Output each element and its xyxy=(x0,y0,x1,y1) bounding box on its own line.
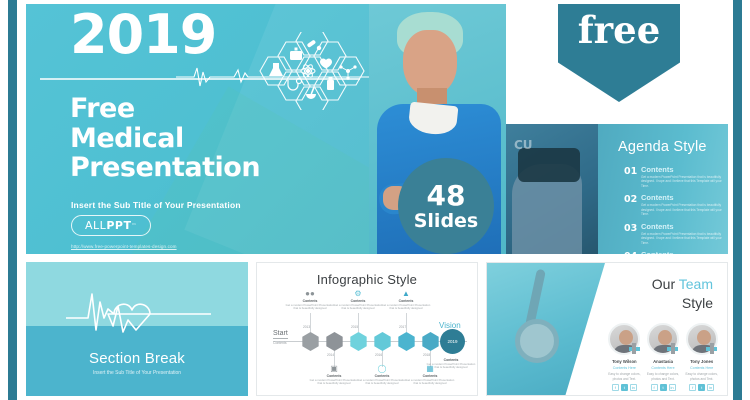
timeline-tick xyxy=(406,313,407,332)
right-rail xyxy=(733,0,742,400)
allppt-logo-tm: ™ xyxy=(131,223,137,229)
hero-subtitle: Insert the Sub Title of Your Presentatio… xyxy=(71,200,241,210)
twitter-icon[interactable]: t xyxy=(621,384,628,391)
milestone-text: Get a modern PowerPoint Presentation tha… xyxy=(355,379,409,387)
agenda-item-desc: Get a modern PowerPoint Presentation tha… xyxy=(641,232,724,245)
agenda-item-heading: Contents xyxy=(641,194,724,202)
milestone-text: Get a modern PowerPoint Presentation tha… xyxy=(283,304,337,312)
facebook-icon[interactable]: f xyxy=(612,384,619,391)
agenda-item-heading: Contents xyxy=(641,251,724,254)
agenda-item-desc: Get a modern PowerPoint Presentation tha… xyxy=(641,175,724,188)
team-title-word2: Team xyxy=(679,276,713,292)
slide-count-label: Slides xyxy=(414,212,479,231)
member-desc: Easy to change colors, photos and Text. xyxy=(605,372,644,381)
slide-section-break[interactable]: Section Break Insert the Sub Title of Yo… xyxy=(26,262,248,396)
member-socials: f t in xyxy=(644,384,683,391)
slide-agenda[interactable]: CU Agenda Style 01 Contents Get a modern… xyxy=(506,124,728,254)
photo-watermark: CU xyxy=(514,138,533,152)
agenda-item[interactable]: 03 Contents Get a modern PowerPoint Pres… xyxy=(624,223,724,245)
team-members: Tony Wilson Contents Here Easy to change… xyxy=(605,323,721,391)
section-break-title: Section Break xyxy=(26,350,248,367)
milestone-top[interactable]: ▲ Contents Get a modern PowerPoint Prese… xyxy=(379,290,433,311)
team-member[interactable]: Anastasia Contents Here Easy to change c… xyxy=(644,323,683,391)
milestone-text: Get a modern PowerPoint Presentation tha… xyxy=(307,379,361,387)
medical-cross-icon xyxy=(667,343,678,354)
agenda-item-number: 01 xyxy=(624,166,641,188)
hero-title-line3: Presentation xyxy=(70,153,260,183)
milestone-text: Get a modern PowerPoint Presentation tha… xyxy=(379,304,433,312)
medical-hexagon-cluster-icon xyxy=(242,32,382,110)
milestone-text: Get a modern PowerPoint Presentation tha… xyxy=(331,304,385,312)
milestone-text: Get a modern PowerPoint Presentation tha… xyxy=(403,379,457,387)
member-socials: f t in xyxy=(682,384,721,391)
allppt-logo-suffix: PPT xyxy=(106,219,131,232)
vision-node[interactable]: 2019 xyxy=(440,329,465,354)
timeline-node[interactable] xyxy=(301,332,320,351)
member-name: Tony Jones xyxy=(682,359,721,364)
team-title: Our Team Style xyxy=(652,275,713,313)
ekg-heart-icon xyxy=(66,288,211,334)
milestone-top[interactable]: ⚙ Contents Get a modern PowerPoint Prese… xyxy=(331,290,385,311)
timeline-tick xyxy=(310,313,311,332)
agenda-item-number: 04 xyxy=(624,251,641,254)
agenda-item-number: 02 xyxy=(624,194,641,216)
team-member[interactable]: Tony Wilson Contents Here Easy to change… xyxy=(605,323,644,391)
timeline-node[interactable] xyxy=(349,332,368,351)
infographic-title: Infographic Style xyxy=(257,272,477,287)
timeline-start-label: Start xyxy=(273,330,288,339)
blood-pressure-photo: CU xyxy=(506,124,598,254)
facebook-icon[interactable]: f xyxy=(689,384,696,391)
timeline-node[interactable] xyxy=(325,332,344,351)
hero-title: Free Medical Presentation xyxy=(70,94,260,183)
linkedin-icon[interactable]: in xyxy=(669,384,676,391)
slide-count-badge: 48 Slides xyxy=(398,158,494,254)
circle-icon: ◯ xyxy=(355,365,409,373)
member-socials: f t in xyxy=(605,384,644,391)
agenda-item[interactable]: 04 Contents Get a modern PowerPoint Pres… xyxy=(624,251,724,254)
member-desc: Easy to change colors, photos and Text. xyxy=(644,372,683,381)
stethoscope-head xyxy=(515,319,559,363)
milestone-bottom[interactable]: ◯ Contents Get a modern PowerPoint Prese… xyxy=(355,365,409,386)
team-title-word1: Our xyxy=(652,276,675,292)
agenda-item-number: 03 xyxy=(624,223,641,245)
stethoscope-photo xyxy=(487,263,605,396)
tooth-icon: ▲ xyxy=(379,290,433,298)
agenda-item-heading: Contents xyxy=(641,223,724,231)
linkedin-icon[interactable]: in xyxy=(630,384,637,391)
timeline-node[interactable] xyxy=(397,332,416,351)
agenda-item[interactable]: 01 Contents Get a modern PowerPoint Pres… xyxy=(624,166,724,188)
section-break-subtitle: Insert the Sub Title of Your Presentatio… xyxy=(26,370,248,376)
agenda-title: Agenda Style xyxy=(618,139,707,155)
timeline-start-sub: Contents xyxy=(273,341,287,345)
slide-count-number: 48 xyxy=(427,182,466,210)
timeline-node[interactable] xyxy=(373,332,392,351)
allppt-logo[interactable]: ALLPPT™ xyxy=(71,215,151,236)
vision-desc-text: Get a modern PowerPoint Presentation tha… xyxy=(425,363,477,371)
team-member[interactable]: Tony Jones Contents Here Easy to change … xyxy=(682,323,721,391)
agenda-item-desc: Get a modern PowerPoint Presentation tha… xyxy=(641,203,724,216)
template-preview-collage: 2019 xyxy=(0,0,750,400)
twitter-icon[interactable]: t xyxy=(698,384,705,391)
vision-year: 2019 xyxy=(447,339,457,344)
face xyxy=(403,30,457,96)
cuff-shape xyxy=(518,148,580,182)
member-name: Anastasia xyxy=(644,359,683,364)
member-role: Contents Here xyxy=(644,366,683,370)
agenda-list: 01 Contents Get a modern PowerPoint Pres… xyxy=(624,166,724,254)
medical-cross-icon xyxy=(706,343,717,354)
milestone-bottom[interactable]: ▣ Contents Get a modern PowerPoint Prese… xyxy=(307,365,361,386)
timeline-tick xyxy=(358,313,359,332)
vision-description: Contents Get a modern PowerPoint Present… xyxy=(425,357,477,370)
hero-title-line2: Medical xyxy=(70,124,260,154)
clipboard-icon: ▣ xyxy=(307,365,361,373)
free-label: free xyxy=(578,8,661,52)
slide-free-banner[interactable]: free xyxy=(506,4,728,116)
free-ribbon: free xyxy=(558,4,680,102)
member-name: Tony Wilson xyxy=(605,359,644,364)
pills-icon: ●● xyxy=(283,290,337,298)
member-role: Contents Here xyxy=(605,366,644,370)
milestone-top[interactable]: ●● Contents Get a modern PowerPoint Pres… xyxy=(283,290,337,311)
left-rail xyxy=(8,0,17,400)
hero-url[interactable]: http://www.free-powerpoint-templates-des… xyxy=(71,244,177,249)
team-title-word3: Style xyxy=(652,294,713,313)
agenda-item-heading: Contents xyxy=(641,166,724,174)
member-role: Contents Here xyxy=(682,366,721,370)
twitter-icon[interactable]: t xyxy=(660,384,667,391)
agenda-item[interactable]: 02 Contents Get a modern PowerPoint Pres… xyxy=(624,194,724,216)
hero-title-line1: Free xyxy=(70,94,260,124)
timeline-node[interactable] xyxy=(421,332,440,351)
molecule-icon: ⚙ xyxy=(331,290,385,298)
hero-year: 2019 xyxy=(70,8,216,62)
slide-infographic[interactable]: Infographic Style Start Contents 2013 20… xyxy=(256,262,478,396)
linkedin-icon[interactable]: in xyxy=(707,384,714,391)
medical-cross-icon xyxy=(629,343,640,354)
slide-team[interactable]: Our Team Style Tony Wilson Contents Here… xyxy=(486,262,728,396)
facebook-icon[interactable]: f xyxy=(651,384,658,391)
allppt-logo-prefix: ALL xyxy=(85,219,106,232)
member-desc: Easy to change colors, photos and Text. xyxy=(682,372,721,381)
